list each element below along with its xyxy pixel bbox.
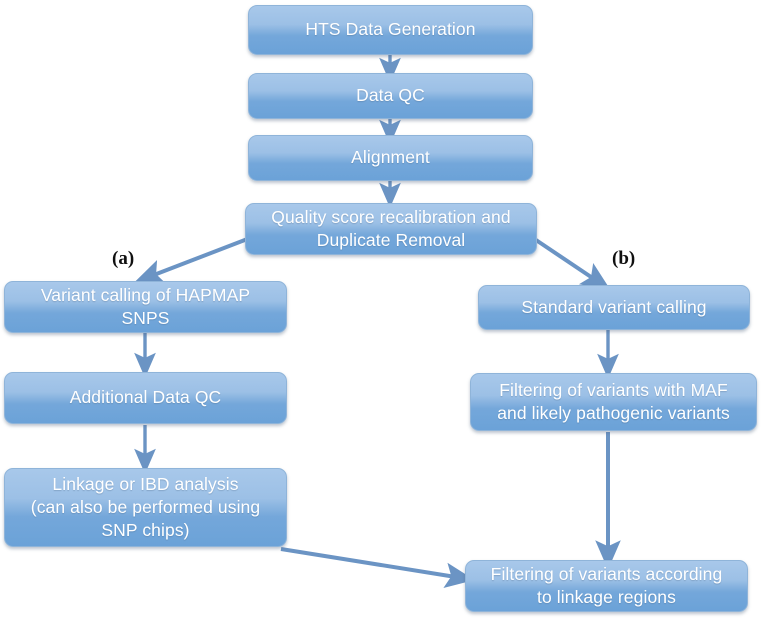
branch-label-a: (a)	[112, 248, 134, 270]
arrow-linkage-to-filteringlinkage	[281, 549, 462, 578]
flowchart-canvas: HTS Data Generation Data QC Alignment Qu…	[0, 0, 765, 620]
arrow-recalibration-to-standardcalling-branch-b	[533, 238, 600, 283]
node-label-hts-data-generation: HTS Data Generation	[305, 18, 475, 41]
node-hts-data-generation[interactable]: HTS Data Generation	[248, 5, 533, 55]
node-label-filtering-maf: Filtering of variants with MAF and likel…	[497, 379, 730, 425]
node-label-variant-calling-hapmap: Variant calling of HAPMAP SNPS	[41, 284, 250, 330]
node-label-additional-data-qc: Additional Data QC	[70, 386, 222, 409]
branch-label-b: (b)	[612, 248, 635, 270]
node-filtering-maf[interactable]: Filtering of variants with MAF and likel…	[470, 373, 757, 431]
node-label-alignment: Alignment	[351, 146, 430, 169]
node-alignment[interactable]: Alignment	[248, 135, 533, 181]
node-label-data-qc: Data QC	[356, 84, 425, 107]
node-standard-variant-calling[interactable]: Standard variant calling	[478, 285, 750, 330]
node-label-standard-variant-calling: Standard variant calling	[521, 296, 706, 319]
node-variant-calling-hapmap[interactable]: Variant calling of HAPMAP SNPS	[4, 281, 287, 333]
node-quality-score-recalibration[interactable]: Quality score recalibration and Duplicat…	[245, 203, 537, 255]
node-data-qc[interactable]: Data QC	[248, 73, 533, 119]
arrow-recalibration-to-hapmap-branch-a	[146, 238, 250, 278]
node-label-quality-score-recalibration: Quality score recalibration and Duplicat…	[271, 206, 510, 252]
node-label-filtering-linkage-regions: Filtering of variants according to linka…	[491, 563, 723, 609]
node-filtering-linkage-regions[interactable]: Filtering of variants according to linka…	[465, 560, 748, 612]
node-additional-data-qc[interactable]: Additional Data QC	[4, 372, 287, 424]
node-linkage-ibd-analysis[interactable]: Linkage or IBD analysis (can also be per…	[4, 468, 287, 547]
branch-label-b-text: (b)	[612, 248, 635, 269]
branch-label-a-text: (a)	[112, 248, 134, 269]
node-label-linkage-ibd-analysis: Linkage or IBD analysis (can also be per…	[31, 473, 260, 542]
